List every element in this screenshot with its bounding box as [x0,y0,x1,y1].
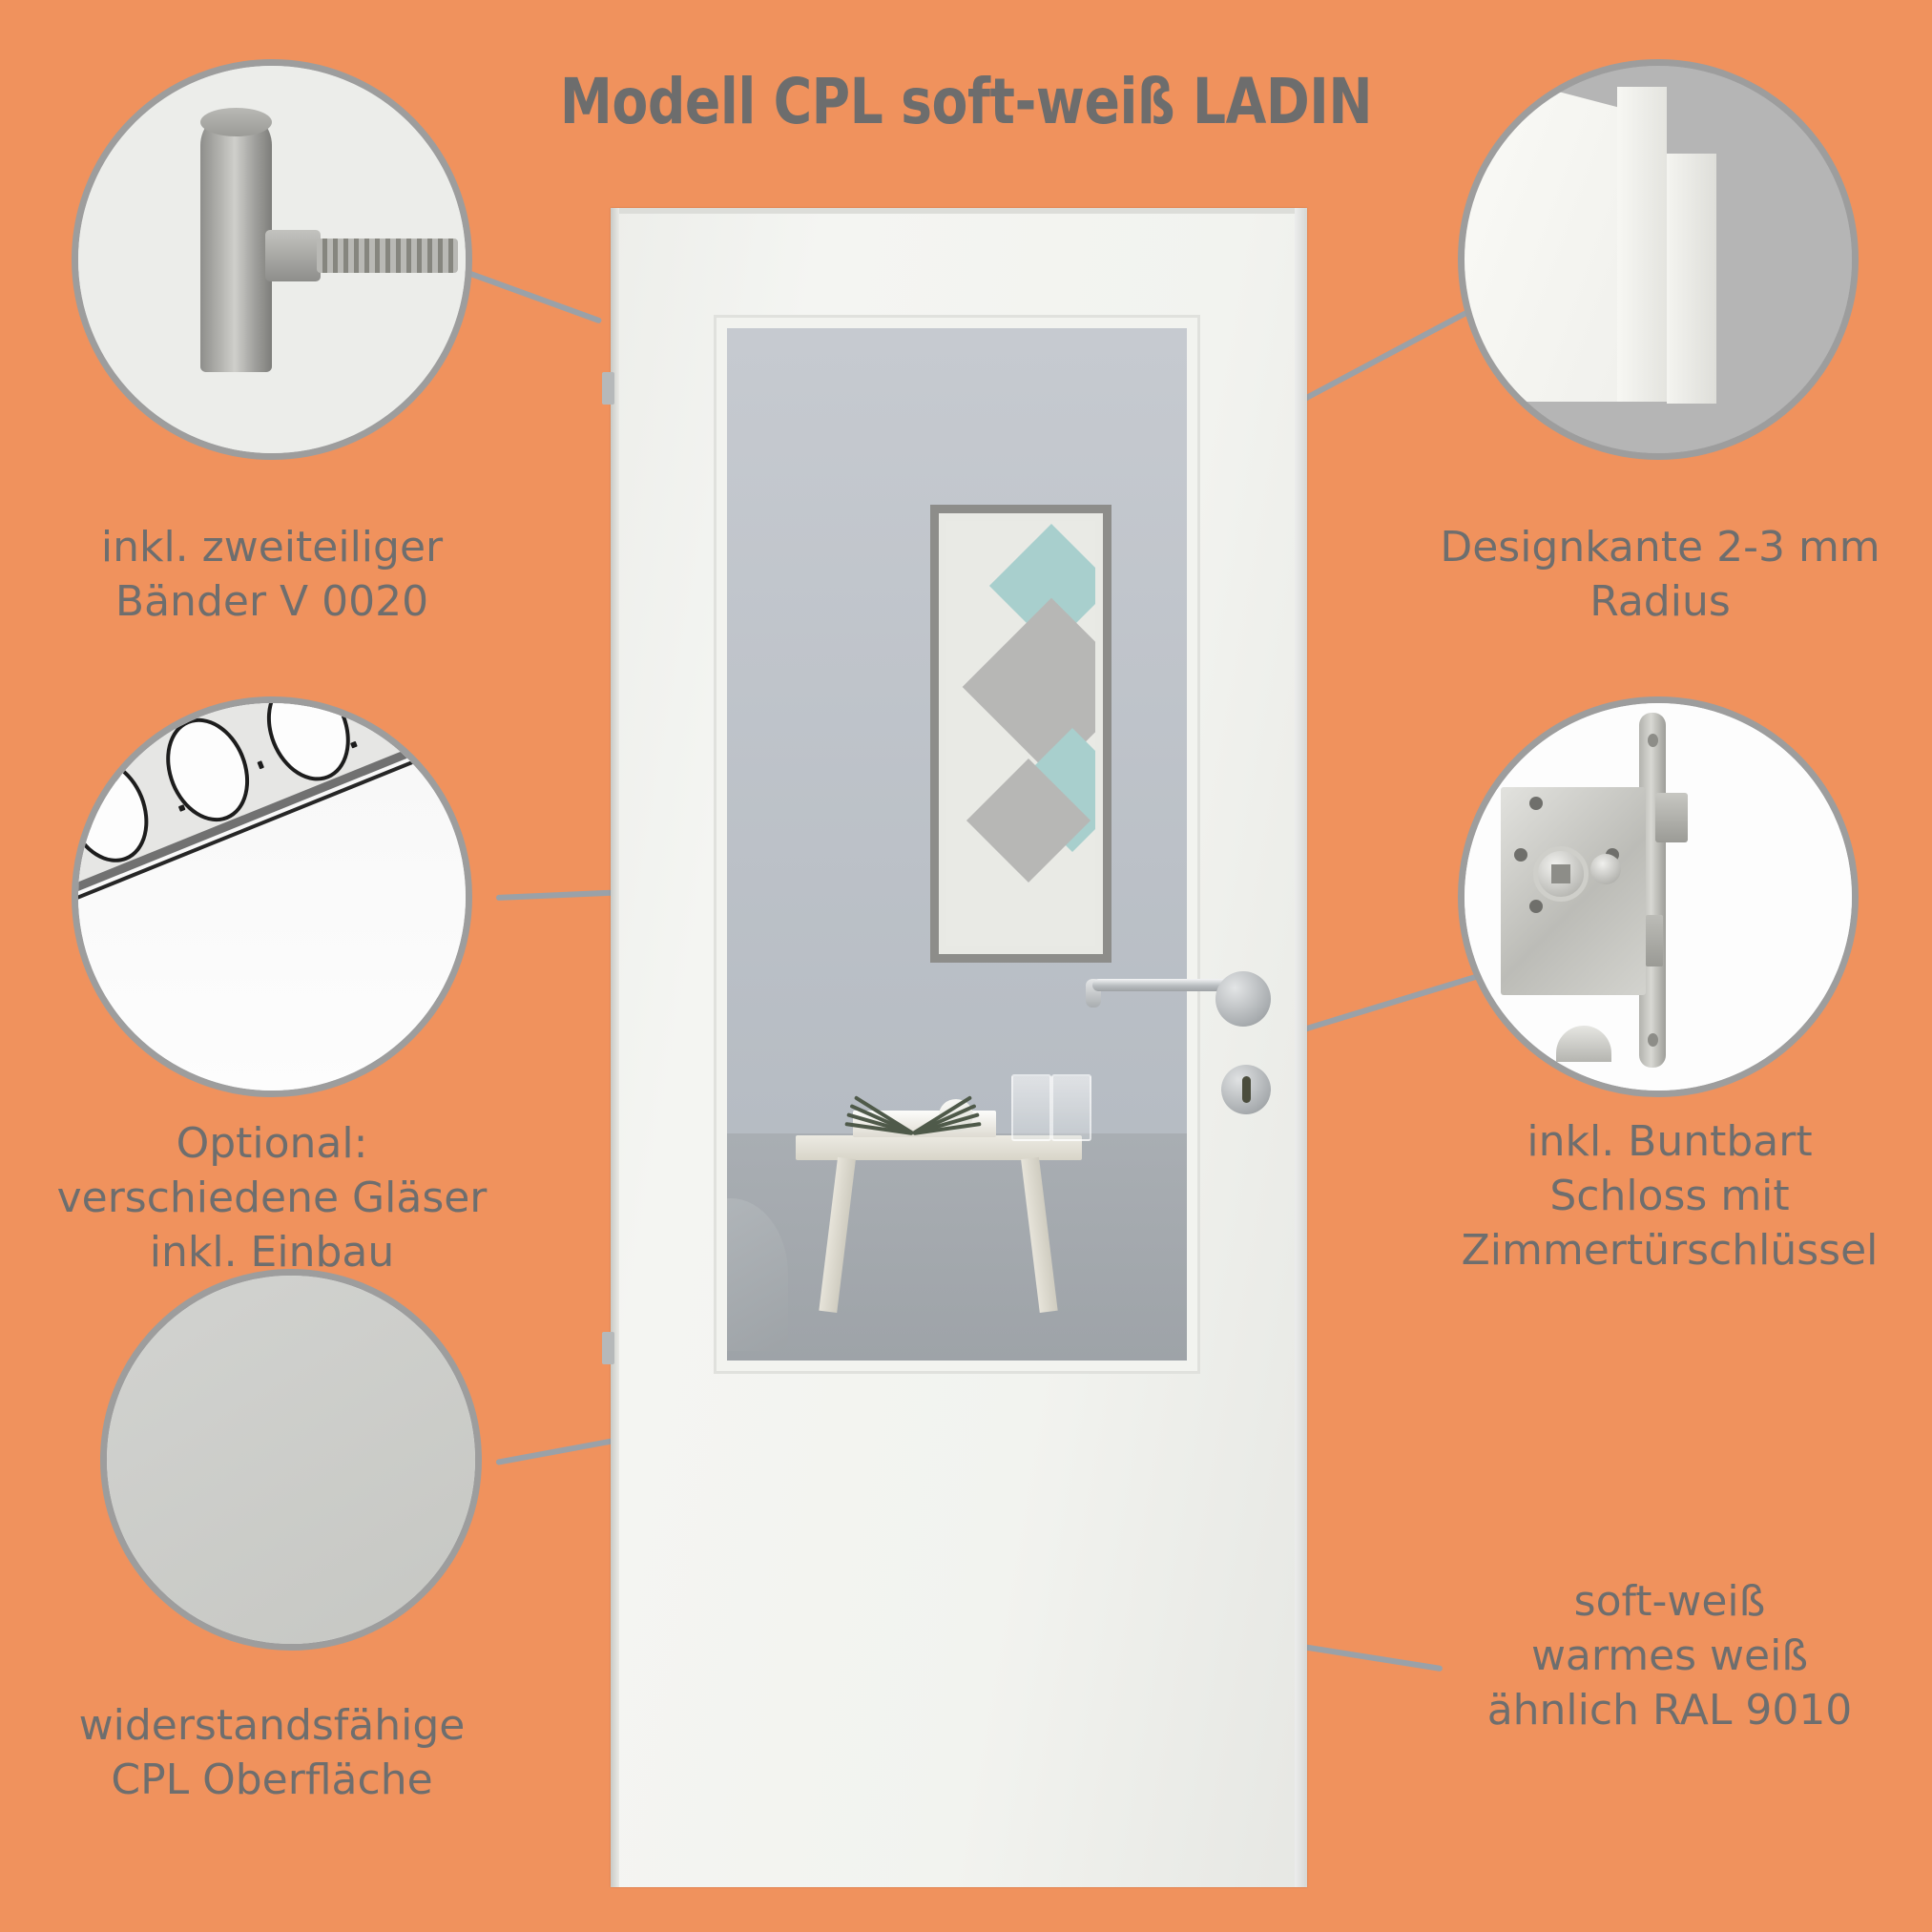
callout-circle-lock[interactable] [1458,696,1859,1097]
hinge-nub-top [602,372,614,405]
door-hinge-edge [611,208,619,1887]
drinking-glass-2 [1051,1074,1091,1141]
callout-caption-core: Optional: verschiedene Gläser inkl. Einb… [52,1116,491,1280]
glass-frame [714,315,1200,1374]
edge-panel-main [1458,87,1636,402]
tubular-core-cross-section-icon [78,703,466,1091]
table-leg-left [819,1157,856,1313]
lock-screw-top [1529,797,1543,810]
hinge-thread [317,239,458,273]
lock-keyway [1590,854,1621,884]
table-with-objects [796,1095,1082,1315]
lever-handle[interactable] [1092,979,1236,991]
callout-caption-surface: widerstandsfähige CPL Oberfläche [52,1698,491,1807]
callout-caption-color: soft-weiß warmes weiß ähnlich RAL 9010 [1431,1574,1908,1738]
callout-caption-edge: Designkante 2-3 mm Radius [1436,520,1884,629]
callout-circle-edge[interactable] [1458,59,1859,460]
door-top-edge [611,208,1307,214]
callout-caption-lock: inkl. Buntbart Schloss mit Zimmertürschl… [1431,1114,1908,1278]
mortise-lock-icon [1465,703,1852,1091]
core-slab [72,696,472,912]
drinking-glass-1 [1011,1074,1051,1141]
lock-screw-side [1514,848,1527,862]
hinge-nub-bottom [602,1332,614,1364]
table-leg-right [1021,1157,1058,1313]
keyhole-escutcheon [1221,1065,1271,1114]
lock-latch-bolt [1655,793,1688,842]
framed-diamond-artwork [930,505,1111,963]
lock-follower [1556,1026,1611,1062]
palm-leaf-icon [841,1099,985,1132]
edge-panel-third [1667,154,1716,404]
hinge-pin-icon [78,66,466,453]
hinge-pin-body [200,110,272,372]
handle-rosette [1215,971,1271,1027]
lock-dead-bolt [1646,915,1663,966]
callout-circle-surface[interactable] [100,1269,482,1651]
lock-faceplate-hole-top [1648,734,1658,747]
infographic-canvas: Modell CPL soft-weiß LADIN [0,0,1932,1932]
callout-circle-hinge[interactable] [72,59,472,460]
door-lock-edge [1295,208,1307,1887]
hinge-collar [265,230,321,281]
edge-panel-second [1617,87,1667,402]
hinge-pin-cap [200,108,272,136]
lock-faceplate-hole-bottom [1648,1033,1658,1047]
door-edge-icon [1465,66,1852,453]
keyhole-icon [1242,1076,1251,1103]
callout-caption-hinge: inkl. zweiteiliger Bänder V 0020 [62,520,482,629]
door-glass-panel [727,328,1187,1361]
lock-spindle-square [1551,864,1570,883]
callout-circle-core[interactable] [72,696,472,1097]
cpl-surface-swatch-icon [107,1276,475,1644]
lock-screw-mid [1529,900,1543,913]
artwork-mat [946,521,1095,946]
door-leaf [611,208,1307,1887]
lock-spindle-hole [1533,846,1589,902]
